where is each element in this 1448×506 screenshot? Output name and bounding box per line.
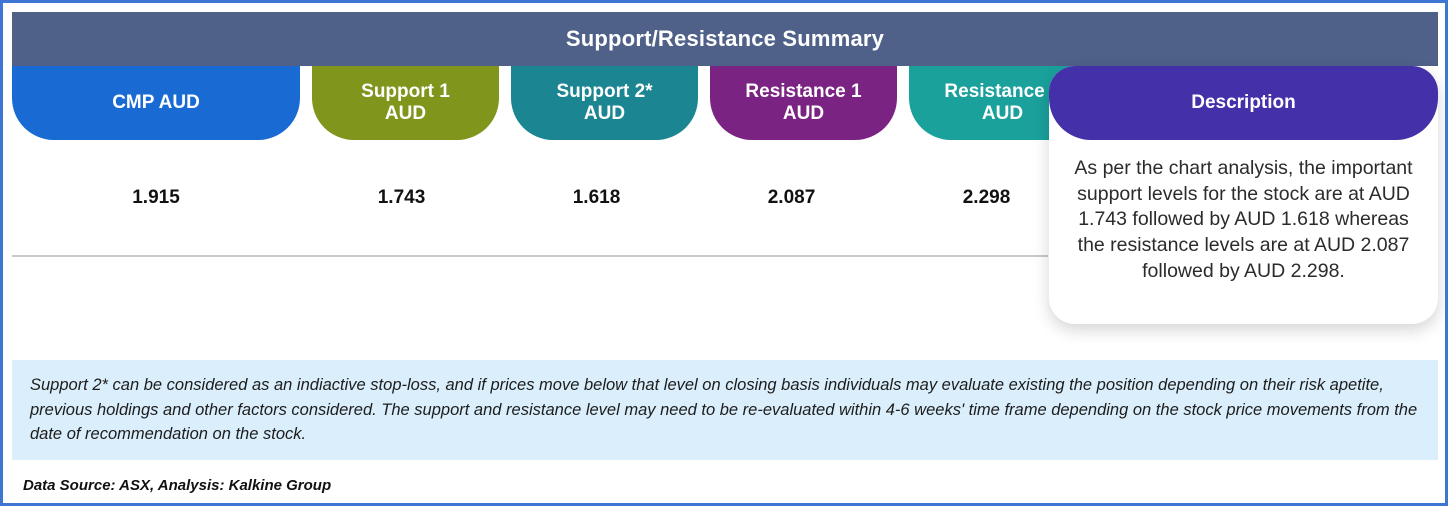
column-header-resistance2-label: Resistance 2 AUD	[944, 81, 1060, 124]
header-gap-1	[300, 66, 312, 140]
value-support2: 1.618	[503, 140, 690, 255]
column-header-support1-line2: AUD	[385, 103, 426, 124]
value-resistance1: 2.087	[698, 140, 885, 255]
column-header-description: Description	[1049, 66, 1438, 140]
value-gap-3	[690, 140, 698, 255]
value-cmp: 1.915	[12, 140, 300, 255]
value-gap-4	[885, 140, 893, 255]
support-resistance-summary-panel: Support/Resistance Summary CMP AUD Suppo…	[0, 0, 1448, 506]
column-header-support2-label: Support 2* AUD	[556, 81, 652, 124]
column-header-support2: Support 2* AUD	[511, 66, 698, 140]
value-gap-1	[300, 140, 308, 255]
data-source-label: Data Source: ASX, Analysis: Kalkine Grou…	[23, 477, 331, 494]
footnote-box: Support 2* can be considered as an india…	[12, 360, 1438, 460]
column-header-resistance1-line2: AUD	[783, 103, 824, 124]
column-header-cmp: CMP AUD	[12, 66, 300, 140]
column-header-cmp-label: CMP AUD	[112, 92, 200, 114]
footnote-text: Support 2* can be considered as an india…	[30, 373, 1420, 447]
column-header-description-label: Description	[1191, 92, 1296, 114]
column-header-support2-line1: Support 2*	[556, 81, 652, 102]
value-support1: 1.743	[308, 140, 495, 255]
row-divider	[12, 255, 1048, 257]
column-header-resistance2-line1: Resistance 2	[944, 81, 1060, 102]
header-gap-2	[499, 66, 511, 140]
page-title: Support/Resistance Summary	[566, 26, 884, 52]
description-card: Description As per the chart analysis, t…	[1049, 66, 1438, 324]
header-gap-4	[897, 66, 909, 140]
header-gap-3	[698, 66, 710, 140]
panel-title-bar: Support/Resistance Summary	[12, 12, 1438, 66]
column-header-support1: Support 1 AUD	[312, 66, 499, 140]
column-header-resistance1-line1: Resistance 1	[745, 81, 861, 102]
value-gap-2	[495, 140, 503, 255]
column-header-resistance2-line2: AUD	[982, 103, 1023, 124]
column-header-support2-line2: AUD	[584, 103, 625, 124]
column-header-resistance1-label: Resistance 1 AUD	[745, 81, 861, 124]
description-text: As per the chart analysis, the important…	[1049, 140, 1438, 305]
column-header-support1-label: Support 1 AUD	[361, 81, 450, 124]
column-header-resistance1: Resistance 1 AUD	[710, 66, 897, 140]
column-header-support1-line1: Support 1	[361, 81, 450, 102]
